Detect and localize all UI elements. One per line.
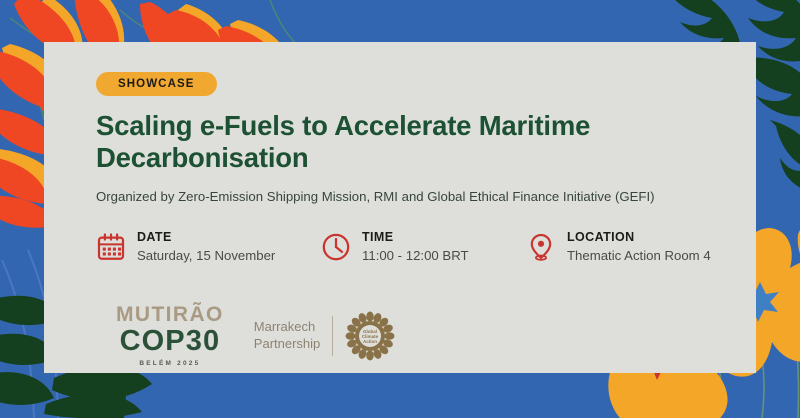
detail-label-date: DATE — [137, 230, 275, 246]
detail-value-date: Saturday, 15 November — [137, 248, 275, 265]
status-badge: SHOWCASE — [96, 72, 217, 96]
detail-label-location: LOCATION — [567, 230, 711, 246]
logo-row: MUTIRÃO COP30 BELÉM 2025 Marrakech Partn… — [116, 304, 732, 368]
clock-icon — [321, 232, 351, 262]
gca-line-1: Global — [363, 329, 377, 334]
location-pin-icon — [526, 232, 556, 262]
logo-divider — [332, 316, 333, 356]
detail-time: TIME 11:00 - 12:00 BRT — [321, 230, 526, 264]
cop30-logo-name: COP30 — [116, 327, 224, 356]
marrakech-partnership-text: Marrakech Partnership — [254, 319, 332, 352]
calendar-icon — [96, 232, 126, 262]
cop30-logo-mutirao: MUTIRÃO — [116, 304, 224, 325]
detail-value-time: 11:00 - 12:00 BRT — [362, 248, 469, 265]
content-card: SHOWCASE Scaling e-Fuels to Accelerate M… — [44, 42, 756, 373]
marrakech-line-2: Partnership — [254, 336, 320, 353]
detail-location: LOCATION Thematic Action Room 4 — [526, 230, 711, 264]
cop30-logo-belem: BELÉM 2025 — [116, 361, 224, 368]
cop30-logo: MUTIRÃO COP30 BELÉM 2025 — [116, 304, 224, 368]
marrakech-line-1: Marrakech — [254, 319, 320, 336]
page-title: Scaling e-Fuels to Accelerate Maritime D… — [96, 110, 696, 175]
detail-value-location: Thematic Action Room 4 — [567, 248, 711, 265]
gca-line-2: Climate — [362, 334, 379, 339]
organizers-subtitle: Organized by Zero-Emission Shipping Miss… — [96, 188, 732, 205]
event-banner: SHOWCASE Scaling e-Fuels to Accelerate M… — [0, 0, 800, 418]
gca-line-3: Action — [363, 339, 377, 344]
event-details: DATE Saturday, 15 November TIME 11:00 - … — [96, 230, 732, 264]
marrakech-partnership-logo: Marrakech Partnership — [254, 311, 395, 361]
global-climate-action-emblem: Global Climate Action — [345, 311, 395, 361]
detail-label-time: TIME — [362, 230, 469, 246]
detail-date: DATE Saturday, 15 November — [96, 230, 321, 264]
